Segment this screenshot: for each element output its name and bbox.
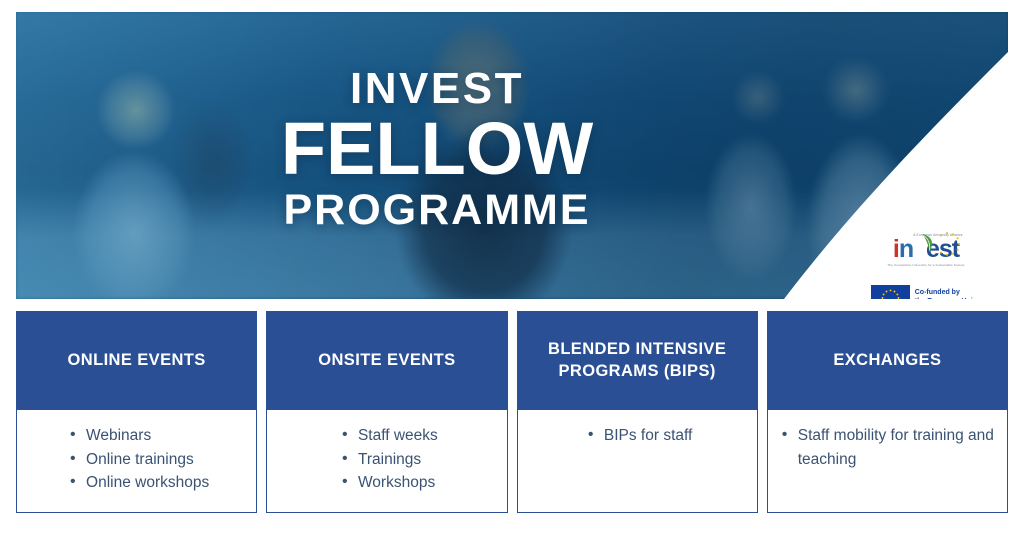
invest-logo-tagline-bottom: The Competitive University for a Sustain…: [862, 264, 990, 267]
hero-banner: INVEST FELLOW PROGRAMME A European Unive…: [16, 12, 1008, 299]
card-body-onsite-events: Staff weeks Trainings Workshops: [266, 410, 507, 513]
invest-logo-letter-n: n: [899, 235, 913, 263]
category-cards-row: ONLINE EVENTS Webinars Online trainings …: [16, 311, 1008, 513]
hero-title-line-fellow: FELLOW: [222, 113, 652, 186]
eu-flag-stars: [871, 285, 910, 299]
card-body-online-events: Webinars Online trainings Online worksho…: [16, 410, 257, 513]
card-online-events: ONLINE EVENTS Webinars Online trainings …: [16, 311, 257, 513]
eu-flag-icon: [871, 285, 910, 299]
card-onsite-events: ONSITE EVENTS Staff weeks Trainings Work…: [266, 311, 507, 513]
invest-logo: A European University Alliance invest: [862, 234, 990, 276]
list-item: Trainings: [356, 448, 438, 472]
eu-funding-text-line1: Co-funded by: [915, 289, 982, 298]
card-header-exchanges: EXCHANGES: [767, 311, 1008, 410]
card-list-online-events: Webinars Online trainings Online worksho…: [66, 424, 209, 502]
list-item: Online workshops: [84, 471, 209, 495]
eu-stars-arc-icon: [935, 230, 963, 258]
card-exchanges: EXCHANGES Staff mobility for training an…: [767, 311, 1008, 513]
card-body-blended-intensive-programs: BIPs for staff: [517, 410, 758, 513]
card-list-blended-intensive-programs: BIPs for staff: [584, 424, 692, 502]
list-item: Workshops: [356, 471, 438, 495]
card-body-exchanges: Staff mobility for training and teaching: [767, 410, 1008, 513]
eu-funding-text-line2: the European Union: [915, 298, 982, 299]
hero-title: INVEST FELLOW PROGRAMME: [222, 67, 652, 233]
card-header-onsite-events: ONSITE EVENTS: [266, 311, 507, 410]
card-blended-intensive-programs: BLENDED INTENSIVE PROGRAMS (BIPS) BIPs f…: [517, 311, 758, 513]
card-list-exchanges: Staff mobility for training and teaching: [778, 424, 999, 502]
list-item: Webinars: [84, 424, 209, 448]
list-item: BIPs for staff: [602, 424, 692, 448]
list-item: Staff weeks: [356, 424, 438, 448]
list-item: Staff mobility for training and teaching: [796, 424, 999, 471]
card-list-onsite-events: Staff weeks Trainings Workshops: [338, 424, 438, 502]
leaf-icon: [921, 233, 936, 253]
eu-funding-text: Co-funded by the European Union: [915, 289, 982, 299]
card-header-blended-intensive-programs: BLENDED INTENSIVE PROGRAMS (BIPS): [517, 311, 758, 410]
list-item: Online trainings: [84, 448, 209, 472]
logo-block: A European University Alliance invest: [862, 234, 990, 299]
invest-logo-wordmark: invest: [893, 237, 959, 262]
hero-title-line-programme: PROGRAMME: [222, 188, 652, 233]
hero-title-line-invest: INVEST: [222, 67, 652, 111]
card-header-online-events: ONLINE EVENTS: [16, 311, 257, 410]
eu-funding-badge: Co-funded by the European Union: [871, 285, 982, 299]
